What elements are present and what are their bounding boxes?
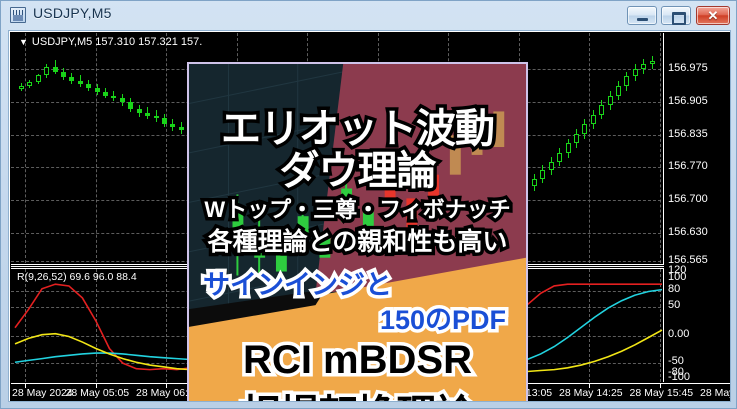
candlestick — [608, 33, 613, 263]
candlestick — [566, 33, 571, 263]
indicator-axis[interactable]: 12010080500.00-50-80-100 — [664, 268, 730, 382]
candlestick — [103, 33, 108, 263]
candlestick — [624, 33, 629, 263]
chart-symbol-text: USDJPY,M5 157.310 157.321 157. — [32, 36, 202, 48]
overlay-line-2: ダウ理論 — [189, 138, 526, 196]
candlestick — [44, 33, 49, 263]
maximize-button[interactable] — [661, 6, 691, 25]
application-window: USDJPY,M5 ▼USDJPY,M5 157.310 157.321 157… — [0, 0, 737, 409]
overlay-line-8: 相場転換理論 — [189, 382, 526, 402]
candlestick — [19, 33, 24, 263]
overlay-text-block: エリオット波動 ダウ理論 Wトップ・三尊・フィボナッチ 各種理論との親和性も高い… — [189, 64, 526, 402]
candlestick — [61, 33, 66, 263]
price-axis-label: 156.905 — [668, 95, 708, 107]
price-axis-label: 156.700 — [668, 193, 708, 205]
indicator-axis-label: 50 — [668, 299, 680, 311]
candlestick — [170, 33, 175, 263]
price-axis-label: 156.770 — [668, 160, 708, 172]
time-axis-label: 28 May 17:05 — [700, 387, 731, 399]
candlestick — [532, 33, 537, 263]
chart-caret-icon[interactable]: ▼ — [19, 37, 28, 47]
indicator-label: R(9,26,52) 69.6 96.0 88.4 — [17, 271, 137, 283]
candlestick — [641, 33, 646, 263]
close-button[interactable] — [696, 6, 730, 25]
overlay-line-4: 各種理論との親和性も高い — [189, 222, 526, 258]
candlestick — [36, 33, 41, 263]
candlestick — [633, 33, 638, 263]
candlestick — [69, 33, 74, 263]
overlay-line-6: 150のPDF — [189, 298, 526, 337]
candlestick — [591, 33, 596, 263]
candlestick — [599, 33, 604, 263]
overlay-line-7: RCI mBDSR — [189, 338, 526, 383]
candlestick — [179, 33, 184, 263]
price-axis-label: 156.630 — [668, 226, 708, 238]
candlestick — [128, 33, 133, 263]
candlestick — [540, 33, 545, 263]
price-axis-label: 156.835 — [668, 128, 708, 140]
time-axis-label: 28 May 05:05 — [66, 387, 130, 399]
chart-symbol-label: ▼USDJPY,M5 157.310 157.321 157. — [19, 36, 202, 48]
candlestick — [145, 33, 150, 263]
candlestick — [137, 33, 142, 263]
title-bar: USDJPY,M5 — [1, 1, 736, 28]
indicator-axis-label: 100 — [668, 271, 686, 283]
candlestick — [650, 33, 655, 263]
time-axis-label: 28 May 14:25 — [559, 387, 623, 399]
candlestick — [154, 33, 159, 263]
candlestick — [95, 33, 100, 263]
chart-client-area[interactable]: ▼USDJPY,M5 157.310 157.321 157. R(9,26,5… — [8, 30, 731, 402]
minimize-button[interactable] — [627, 6, 657, 25]
time-axis-label: 28 May 15:45 — [630, 387, 694, 399]
time-axis-label: 28 May 2024 — [12, 387, 73, 399]
candlestick — [582, 33, 587, 263]
candlestick — [162, 33, 167, 263]
price-axis-label: 156.975 — [668, 62, 708, 74]
candlestick — [27, 33, 32, 263]
overlay-line-3: Wトップ・三尊・フィボナッチ — [189, 192, 526, 224]
indicator-axis-label: -100 — [668, 371, 690, 383]
chart-document-icon — [10, 7, 26, 23]
candlestick — [120, 33, 125, 263]
candlestick — [53, 33, 58, 263]
gridline-vertical — [660, 33, 661, 263]
window-title: USDJPY,M5 — [33, 5, 112, 21]
overlay-line-5: サインインジと — [189, 263, 526, 302]
indicator-axis-label: 80 — [668, 283, 680, 295]
candlestick — [78, 33, 83, 263]
candlestick — [557, 33, 562, 263]
chart-canvas[interactable]: ▼USDJPY,M5 157.310 157.321 157. R(9,26,5… — [9, 31, 730, 401]
promotional-overlay: エリオット波動 ダウ理論 Wトップ・三尊・フィボナッチ 各種理論との親和性も高い… — [187, 62, 528, 402]
indicator-axis-label: 0.00 — [668, 328, 689, 340]
candlestick — [574, 33, 579, 263]
candlestick — [111, 33, 116, 263]
candlestick — [616, 33, 621, 263]
candlestick — [86, 33, 91, 263]
candlestick — [549, 33, 554, 263]
gridline-vertical — [25, 33, 26, 263]
